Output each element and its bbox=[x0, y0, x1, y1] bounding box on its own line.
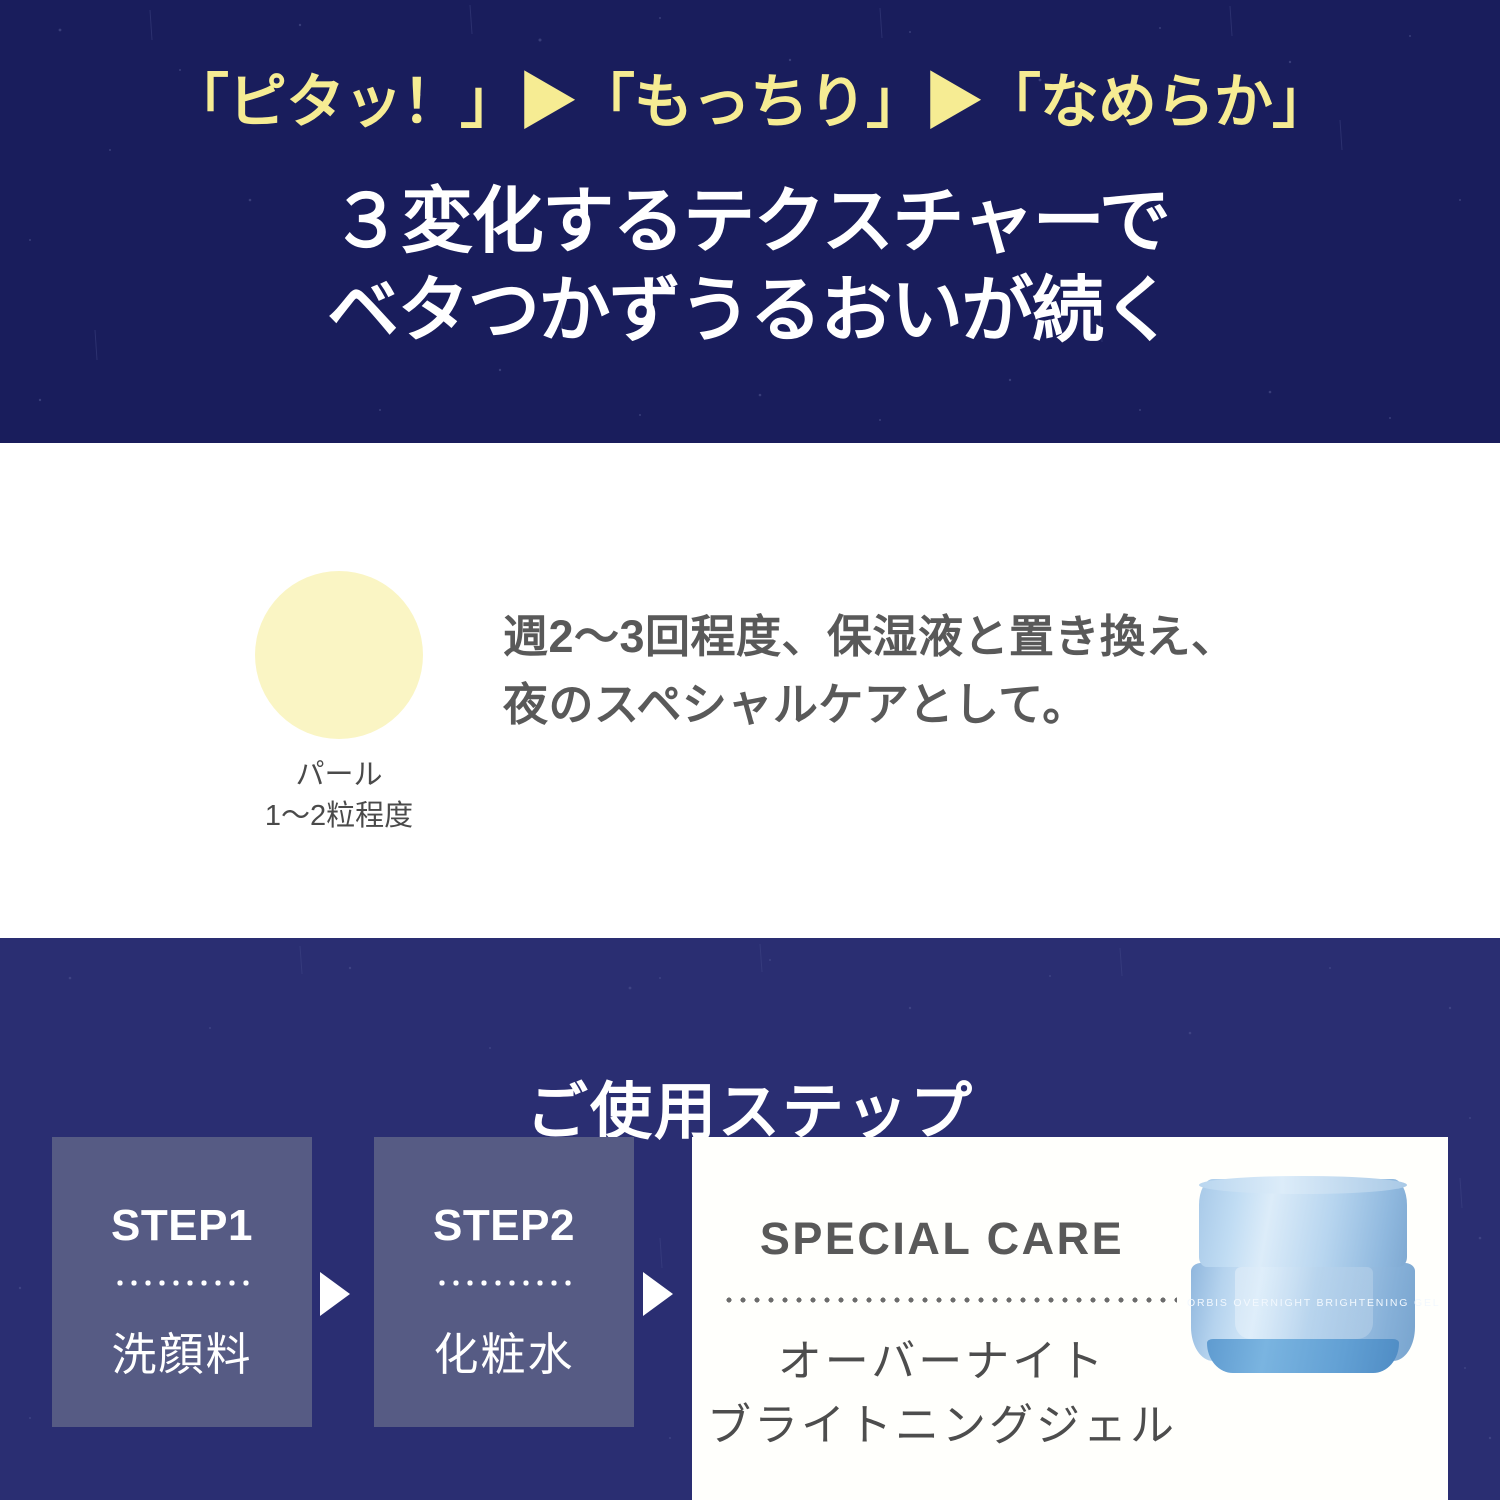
step-2-dotted-divider bbox=[435, 1280, 573, 1286]
special-care-card[interactable]: SPECIAL CARE オーバーナイト ブライトニングジェル ORBIS OV… bbox=[692, 1137, 1448, 1500]
special-care-product-name: オーバーナイト ブライトニングジェル bbox=[692, 1330, 1192, 1458]
pearl-caption-line2: 1〜2粒程度 bbox=[249, 796, 429, 837]
pearl-caption-line1: パール bbox=[249, 755, 429, 796]
step-2-name: 化粧水 bbox=[374, 1318, 634, 1383]
usage-amount-section: パール 1〜2粒程度 週2〜3回程度、保湿液と置き換え、 夜のスペシャルケアとし… bbox=[0, 443, 1500, 938]
special-care-title: SPECIAL CARE bbox=[692, 1213, 1192, 1265]
arrow-right-icon-1 bbox=[320, 1272, 350, 1316]
jar-base bbox=[1207, 1339, 1399, 1373]
special-care-dotted-divider bbox=[722, 1297, 1177, 1303]
special-care-product-line2: ブライトニングジェル bbox=[692, 1394, 1192, 1458]
step-card-2[interactable]: STEP2 化粧水 bbox=[374, 1137, 634, 1427]
step-1-label: STEP1 bbox=[52, 1201, 312, 1251]
pearl-amount-block: パール 1〜2粒程度 bbox=[249, 571, 429, 837]
usage-description-line1: 週2〜3回程度、保湿液と置き換え、 bbox=[503, 603, 1237, 671]
usage-description: 週2〜3回程度、保湿液と置き換え、 夜のスペシャルケアとして。 bbox=[503, 603, 1237, 740]
hero-section: 「ピタッ！」▶「もっちり」▶「なめらか」 ３変化するテクスチャーで ベタつかずう… bbox=[0, 0, 1500, 443]
hero-tagline: 「ピタッ！」▶「もっちり」▶「なめらか」 bbox=[0, 72, 1500, 134]
step-1-dotted-divider bbox=[113, 1280, 251, 1286]
pearl-caption: パール 1〜2粒程度 bbox=[249, 755, 429, 837]
usage-steps-section: ご使用ステップ STEP1 洗顔料 STEP2 化粧水 SPECIAL CARE… bbox=[0, 938, 1500, 1500]
hero-headline: ３変化するテクスチャーで ベタつかずうるおいが続く bbox=[0, 178, 1500, 355]
usage-description-line2: 夜のスペシャルケアとして。 bbox=[503, 671, 1237, 739]
step-card-1[interactable]: STEP1 洗顔料 bbox=[52, 1137, 312, 1427]
step-1-name: 洗顔料 bbox=[52, 1318, 312, 1383]
special-care-product-line1: オーバーナイト bbox=[692, 1330, 1192, 1394]
steps-row: STEP1 洗顔料 STEP2 化粧水 SPECIAL CARE オーバーナイト… bbox=[0, 1137, 1500, 1500]
product-infographic-page: 「ピタッ！」▶「もっちり」▶「なめらか」 ３変化するテクスチャーで ベタつかずう… bbox=[0, 0, 1500, 1500]
pearl-dot-icon bbox=[255, 571, 423, 739]
hero-headline-line2: ベタつかずうるおいが続く bbox=[0, 267, 1500, 356]
jar-brand-label: ORBIS OVERNIGHT BRIGHTENING GEL bbox=[1187, 1297, 1429, 1309]
product-jar-image: ORBIS OVERNIGHT BRIGHTENING GEL bbox=[1187, 1179, 1429, 1389]
hero-headline-line1: ３変化するテクスチャーで bbox=[331, 182, 1170, 262]
jar-lid-top bbox=[1199, 1176, 1407, 1194]
step-2-label: STEP2 bbox=[374, 1201, 634, 1251]
arrow-right-icon-2 bbox=[643, 1272, 673, 1316]
